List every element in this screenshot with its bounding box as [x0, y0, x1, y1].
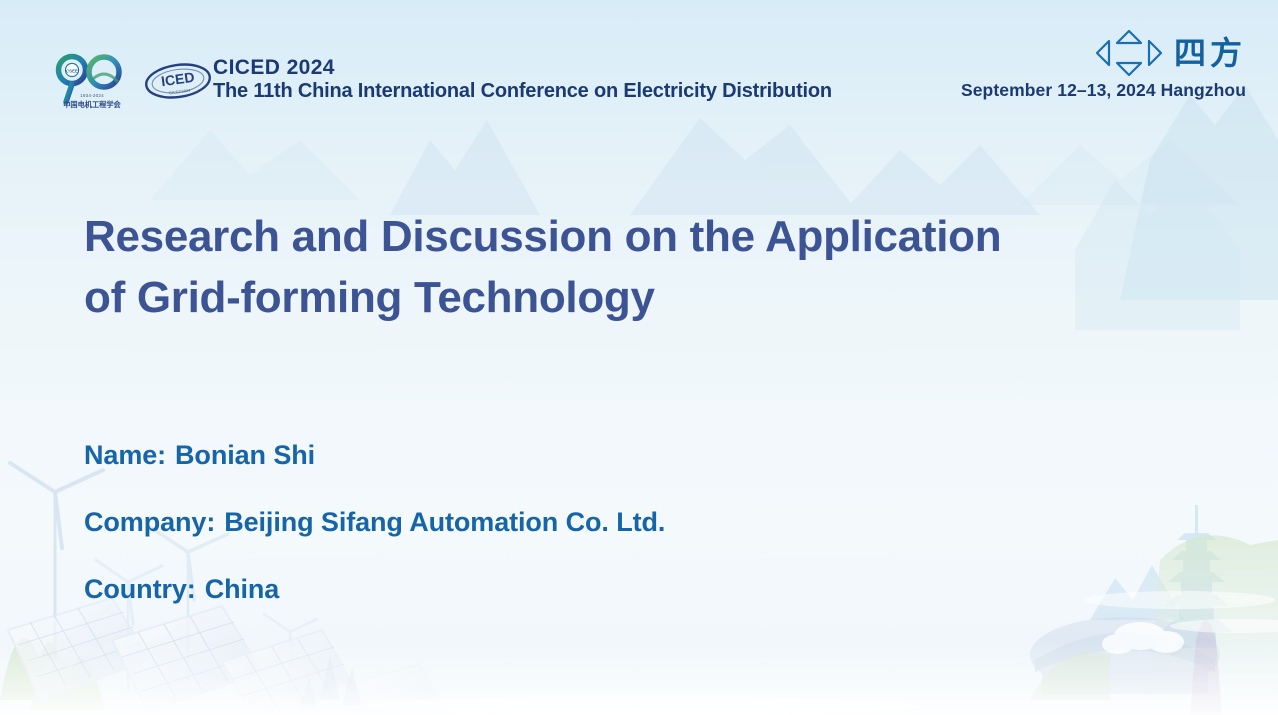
presenter-name-value: Bonian Shi — [175, 440, 315, 470]
solar-panel — [222, 630, 358, 715]
svg-text:ICED: ICED — [160, 69, 195, 90]
sponsor-logo-block: 四方 — [1094, 28, 1246, 78]
conference-subtitle: The 11th China International Conference … — [213, 80, 832, 103]
triangle-down — [1117, 63, 1141, 75]
triangle-right — [1149, 41, 1161, 65]
ciced-ellipse-logo: ICED CICED2024 — [140, 57, 216, 105]
slide-header: CSEE 1934-2024 中国电机工程学会 ICED CICED2024 C… — [0, 0, 1278, 118]
presenter-company-value: Beijing Sifang Automation Co. Ltd. — [224, 507, 665, 537]
cloud-swirl — [1102, 622, 1184, 654]
pagoda-shape — [1160, 505, 1233, 648]
sifang-diamond-logo — [1094, 28, 1164, 78]
solar-panel — [330, 664, 448, 715]
presentation-title: Research and Discussion on the Applicati… — [84, 207, 1084, 328]
solar-panel — [112, 606, 262, 712]
presenter-country-label: Country: — [84, 574, 196, 604]
svg-text:1934-2024: 1934-2024 — [80, 93, 104, 98]
presenter-info: Name:Bonian Shi Company:Beijing Sifang A… — [84, 440, 1084, 605]
presenter-country-value: China — [205, 574, 280, 604]
svg-text:中国电机工程学会: 中国电机工程学会 — [63, 100, 121, 109]
hangzhou-scenery — [1030, 85, 1278, 715]
event-date-location: September 12–13, 2024 Hangzhou — [961, 80, 1246, 101]
solar-panel — [8, 598, 150, 700]
slide-canvas: CSEE 1934-2024 中国电机工程学会 ICED CICED2024 C… — [0, 0, 1278, 715]
mist-streaks — [360, 591, 1278, 715]
upper-mountains-far — [150, 130, 1240, 205]
title-line-1: Research and Discussion on the Applicati… — [84, 207, 1084, 268]
triangle-left — [1097, 41, 1109, 65]
title-line-2: of Grid-forming Technology — [84, 268, 1084, 329]
presenter-name-label: Name: — [84, 440, 166, 470]
pine-trees — [300, 655, 362, 710]
presenter-company-label: Company: — [84, 507, 215, 537]
presenter-name-row: Name:Bonian Shi — [84, 440, 1084, 471]
upper-mountains — [390, 118, 1040, 215]
presenter-company-row: Company:Beijing Sifang Automation Co. Lt… — [84, 507, 1084, 538]
presenter-country-row: Country:China — [84, 574, 1084, 605]
sponsor-chinese-name: 四方 — [1174, 37, 1246, 69]
svg-text:CSEE: CSEE — [66, 68, 78, 73]
conference-title-block: CICED 2024 The 11th China International … — [213, 56, 832, 104]
mist-band — [0, 640, 1278, 715]
triangle-up — [1117, 31, 1141, 43]
stadium-shape — [1030, 617, 1220, 694]
conference-name: CICED 2024 — [213, 56, 832, 80]
foliage — [0, 638, 104, 711]
csee-90th-anniversary-logo: CSEE 1934-2024 中国电机工程学会 — [46, 52, 138, 112]
wind-turbine — [264, 614, 317, 715]
